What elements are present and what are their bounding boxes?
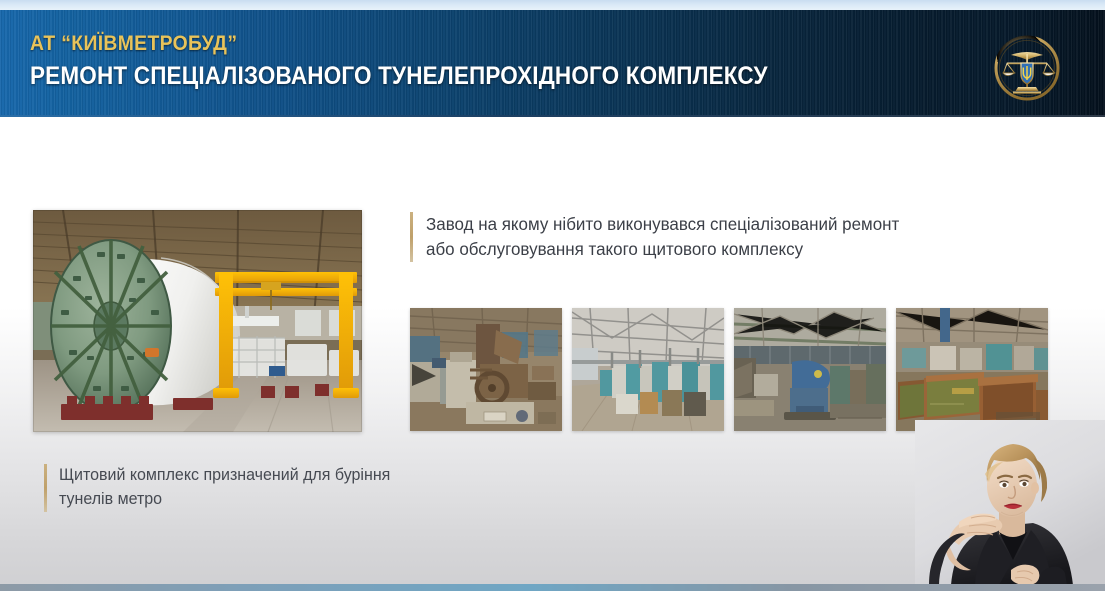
headline-callout: Завод на якому нібито виконувався спеціа…	[410, 212, 926, 262]
headline-accent-bar	[410, 212, 413, 262]
subject-title: РЕМОНТ СПЕЦІАЛІЗОВАНОГО ТУНЕЛЕПРОХІДНОГО…	[30, 62, 768, 92]
caption-accent-bar	[44, 464, 47, 512]
factory-photo-1[interactable]	[410, 308, 562, 431]
factory-photo-2[interactable]	[572, 308, 724, 431]
top-accent-strip	[0, 0, 1105, 10]
caption-callout: Щитовий комплекс призначений для буріння…	[44, 464, 419, 512]
headline-text: Завод на якому нібито виконувався спеціа…	[426, 212, 911, 262]
header-banner: АТ “КИЇВМЕТРОБУД” РЕМОНТ СПЕЦІАЛІЗОВАНОГ…	[0, 10, 1105, 117]
prosecutor-general-office-emblem-icon	[991, 32, 1063, 104]
presentation-slide: АТ “КИЇВМЕТРОБУД” РЕМОНТ СПЕЦІАЛІЗОВАНОГ…	[0, 0, 1105, 591]
sign-language-interpreter	[915, 420, 1105, 585]
tunnel-boring-machine-photo	[33, 210, 362, 432]
bottom-accent-bar	[0, 584, 1105, 591]
factory-photo-4[interactable]	[896, 308, 1048, 431]
factory-photo-3[interactable]	[734, 308, 886, 431]
caption-text: Щитовий комплекс призначений для буріння…	[59, 464, 408, 512]
organization-title: АТ “КИЇВМЕТРОБУД”	[30, 32, 784, 57]
factory-photo-gallery	[410, 308, 1055, 431]
banner-title-group: АТ “КИЇВМЕТРОБУД” РЕМОНТ СПЕЦІАЛІЗОВАНОГ…	[30, 32, 850, 91]
